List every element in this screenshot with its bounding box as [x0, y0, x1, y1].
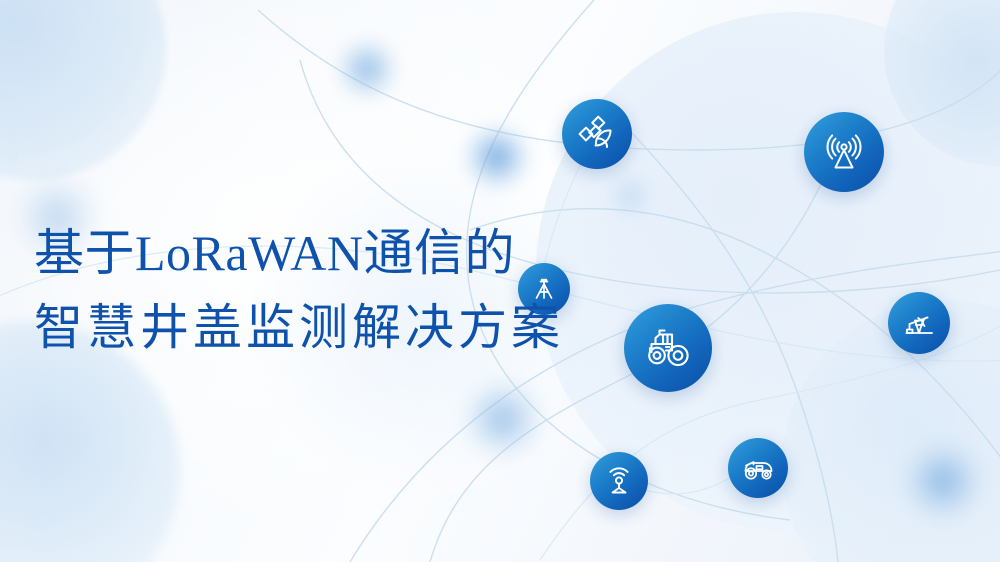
satellite-icon	[576, 113, 618, 155]
satellite-node	[562, 99, 632, 169]
title-line-primary: 基于LoRaWAN通信的	[34, 228, 564, 278]
tractor-node	[624, 304, 712, 392]
radio-tower-icon	[821, 129, 867, 175]
oil-pumpjack-icon	[900, 304, 938, 342]
title-line-secondary: 智慧井盖监测解决方案	[34, 304, 564, 353]
title-block: 基于LoRaWAN通信的 智慧井盖监测解决方案	[34, 228, 564, 353]
title-slide: 基于LoRaWAN通信的 智慧井盖监测解决方案	[0, 0, 1000, 562]
radio-tower-node	[804, 112, 884, 192]
lawn-mower-icon	[740, 450, 776, 486]
lawn-mower-node	[728, 438, 788, 498]
signal-antenna-node	[590, 452, 648, 510]
signal-antenna-icon	[602, 464, 636, 498]
tractor-icon	[642, 322, 694, 374]
oil-pumpjack-node	[888, 292, 950, 354]
